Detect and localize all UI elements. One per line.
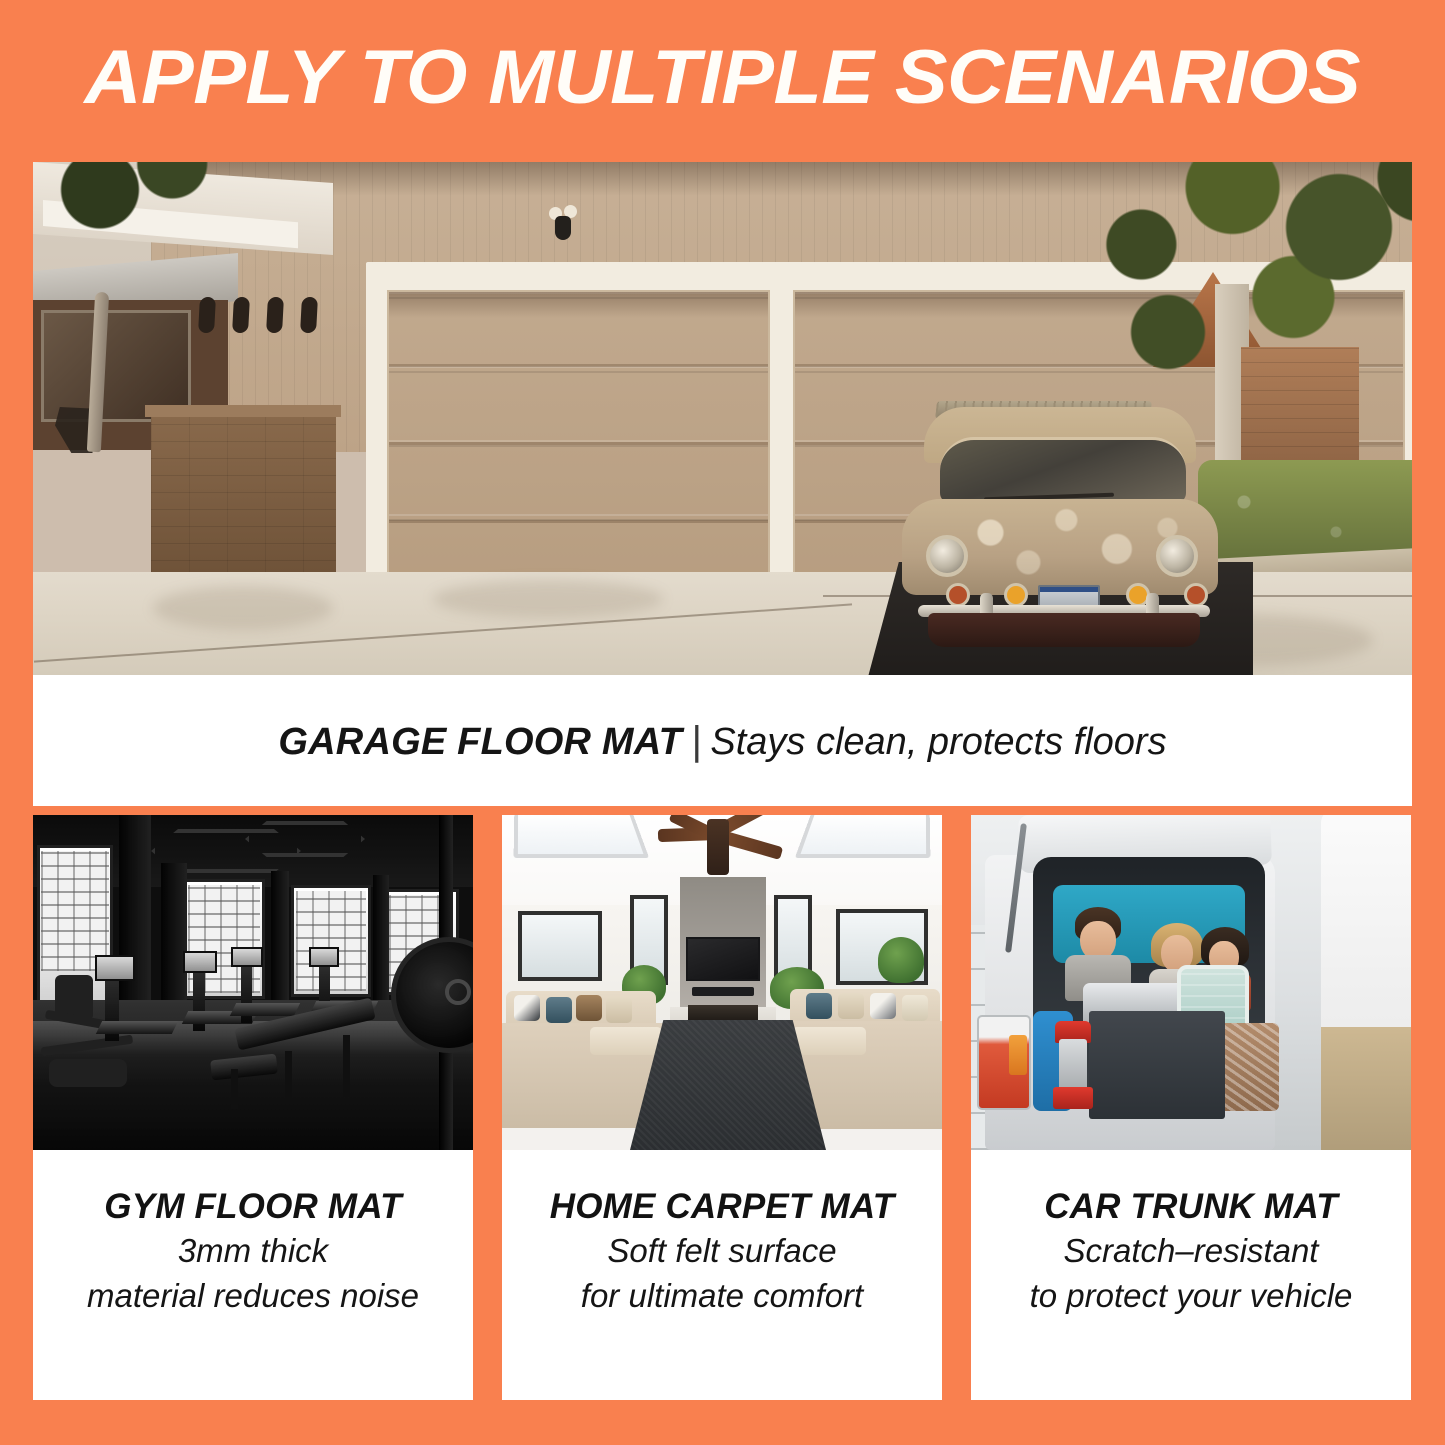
car-trunk-scene-photo <box>971 815 1411 1150</box>
trunk-caption: CAR TRUNK MAT Scratch–resistant to prote… <box>971 1150 1411 1400</box>
standing-person-pants <box>1321 1027 1411 1150</box>
bench-seat <box>210 1054 278 1081</box>
skylight-right <box>795 815 931 858</box>
gym-caption-line2: material reduces noise <box>33 1276 473 1317</box>
header-banner: APPLY TO MULTIPLE SCENARIOS <box>0 0 1445 162</box>
elliptical-machine <box>39 975 147 1105</box>
standing-person-shirt <box>1321 815 1411 1039</box>
home-caption-line1: Soft felt surface <box>502 1231 942 1272</box>
throw-pillow <box>606 997 632 1023</box>
headlight-right <box>1156 535 1198 577</box>
headlight-left <box>926 535 968 577</box>
license-plate <box>1038 585 1100 607</box>
garage-caption-line: GARAGE FLOOR MAT|Stays clean, protects f… <box>278 721 1166 761</box>
plate-header <box>1040 587 1098 592</box>
driveway-shadow <box>433 580 663 618</box>
home-caption-line2: for ultimate comfort <box>502 1276 942 1317</box>
weight-plate-hub <box>445 979 471 1005</box>
bench-leg <box>231 1069 238 1109</box>
door-shadow <box>389 292 768 318</box>
brick-pier <box>151 410 336 578</box>
camping-lantern-body <box>1059 1039 1087 1091</box>
trunk-caption-title: CAR TRUNK MAT <box>971 1186 1411 1227</box>
patterned-blanket <box>1217 1023 1279 1111</box>
structural-column <box>271 871 289 1021</box>
elliptical-arm <box>41 1035 133 1057</box>
gym-caption: GYM FLOOR MAT 3mm thick material reduces… <box>33 1150 473 1400</box>
throw-pillow <box>902 995 928 1021</box>
house-digit <box>198 297 216 333</box>
scenario-column-home: HOME CARPET MAT Soft felt surface for ul… <box>502 815 942 1400</box>
lamp-base <box>555 216 571 240</box>
gym-caption-title: GYM FLOOR MAT <box>33 1186 473 1227</box>
infographic-page: APPLY TO MULTIPLE SCENARIOS <box>0 0 1445 1445</box>
tree-foliage-right <box>1073 162 1412 382</box>
taillight-amber <box>1009 1035 1027 1075</box>
garage-caption-subtitle: Stays clean, protects floors <box>710 721 1166 763</box>
throw-pillow <box>806 993 832 1019</box>
treadmill-deck <box>96 1021 178 1034</box>
tree-foliage-left <box>43 162 233 248</box>
window-far-left <box>518 911 602 981</box>
home-caption: HOME CARPET MAT Soft felt surface for ul… <box>502 1150 942 1400</box>
scenario-column-gym: GYM FLOOR MAT 3mm thick material reduces… <box>33 815 473 1400</box>
bench-leg <box>285 1051 292 1103</box>
door-panel-line <box>389 442 768 445</box>
throw-pillow <box>838 993 864 1019</box>
turn-signal <box>1004 583 1028 607</box>
house-digit <box>266 297 284 333</box>
treadmill-screen <box>183 951 217 973</box>
vintage-car <box>888 407 1238 622</box>
houseplant <box>878 937 924 983</box>
city-building <box>296 891 366 991</box>
car-lower-body <box>928 613 1200 647</box>
wall-mounted-tv <box>686 937 760 981</box>
house-digit <box>300 297 318 333</box>
skylight-left <box>514 815 650 858</box>
adjustable-bench <box>211 1013 383 1108</box>
ceiling-fan-motor <box>707 819 729 875</box>
page-title: APPLY TO MULTIPLE SCENARIOS <box>85 40 1361 122</box>
marker-light <box>1184 583 1208 607</box>
sofa-cushion <box>792 1027 866 1055</box>
trunk-caption-line2: to protect your vehicle <box>971 1276 1411 1317</box>
house-number-digits <box>199 297 317 333</box>
house-digit <box>232 297 250 333</box>
driveway-shadow <box>153 586 333 630</box>
door-panel-line <box>389 364 768 367</box>
bench-leg <box>343 1035 350 1097</box>
treadmill-screen <box>309 947 339 967</box>
brick-pier-cap <box>145 405 341 417</box>
elliptical-base <box>49 1059 127 1087</box>
garage-caption-band: GARAGE FLOOR MAT|Stays clean, protects f… <box>33 675 1412 806</box>
scenario-column-trunk: CAR TRUNK MAT Scratch–resistant to prote… <box>971 815 1411 1400</box>
treadmill-screen <box>95 955 135 981</box>
gym-caption-line1: 3mm thick <box>33 1231 473 1272</box>
garage-door-left <box>387 290 770 598</box>
trunk-caption-line1: Scratch–resistant <box>971 1231 1411 1272</box>
gym-scene-photo <box>33 815 473 1150</box>
garage-caption-title: GARAGE FLOOR MAT <box>278 721 682 763</box>
throw-pillow <box>514 995 540 1021</box>
door-panel-line <box>389 520 768 523</box>
treadmill-screen <box>231 947 263 967</box>
home-caption-title: HOME CARPET MAT <box>502 1186 942 1227</box>
windshield <box>940 437 1186 503</box>
structural-column <box>373 875 389 1015</box>
caption-separator: | <box>691 719 701 763</box>
security-light-icon <box>549 204 581 240</box>
car-trunk-mat <box>1089 1011 1225 1119</box>
living-room-scene-photo <box>502 815 942 1150</box>
throw-pillow <box>546 997 572 1023</box>
soundbar <box>692 987 754 996</box>
throw-pillow <box>576 995 602 1021</box>
garage-scene-photo <box>33 162 1412 675</box>
sofa-cushion <box>590 1027 662 1055</box>
taillight <box>977 1015 1031 1110</box>
throw-pillow <box>870 993 896 1019</box>
camping-lantern-base <box>1053 1087 1093 1109</box>
home-carpet-mat <box>630 1020 826 1150</box>
city-building <box>41 851 109 971</box>
marker-light <box>946 583 970 607</box>
ceiling-hex-light <box>245 821 365 857</box>
